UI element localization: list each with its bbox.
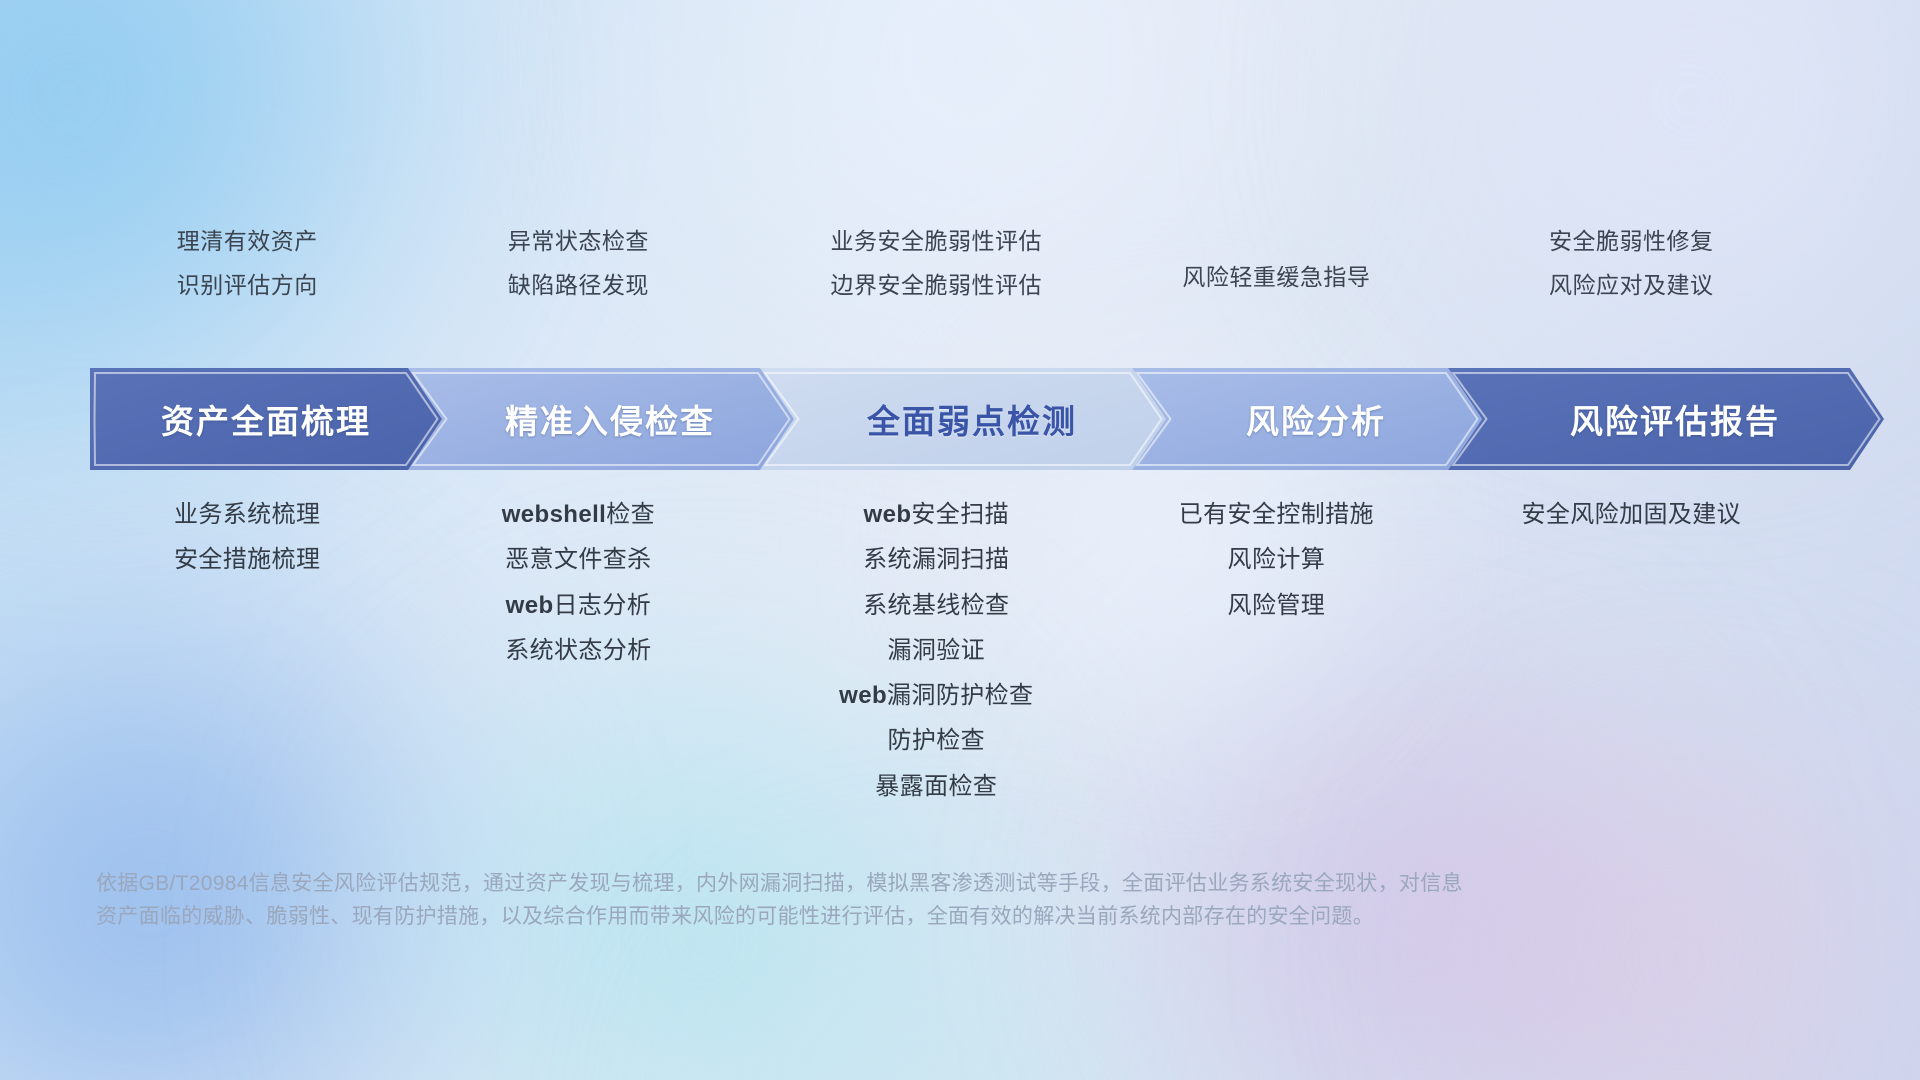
bottom-caption-column-1: 业务系统梳理安全措施梳理 (90, 500, 404, 801)
bottom-caption-2-1: webshell检查 (502, 500, 655, 529)
bottom-caption-4-1: 已有安全控制措施 (1179, 500, 1374, 529)
diagram-content: 理清有效资产识别评估方向异常状态检查缺陷路径发现业务安全脆弱性评估边界安全脆弱性… (0, 0, 1920, 1080)
bottom-caption-column-5: 安全风险加固及建议 (1433, 500, 1830, 801)
top-caption-4-1: 风险轻重缓急指导 (1182, 264, 1370, 292)
top-caption-column-2: 异常状态检查缺陷路径发现 (404, 228, 752, 299)
stage-title-2: 精准入侵检查 (505, 395, 715, 443)
bottom-caption-5-1: 安全风险加固及建议 (1521, 500, 1741, 529)
stage-title-3: 全面弱点检测 (867, 395, 1077, 443)
process-stage-3[interactable]: 全面弱点检测 (760, 368, 1166, 470)
bottom-caption-1-1: 业务系统梳理 (174, 500, 320, 529)
top-caption-column-3: 业务安全脆弱性评估边界安全脆弱性评估 (752, 228, 1120, 299)
process-stage-4[interactable]: 风险分析 (1132, 368, 1482, 470)
footer-line-1: 依据GB/T20984信息安全风险评估规范，通过资产发现与梳理，内外网漏洞扫描，… (96, 868, 1616, 901)
bottom-caption-1-2: 安全措施梳理 (174, 545, 320, 574)
bottom-caption-3-5: web漏洞防护检查 (839, 681, 1033, 710)
top-caption-3-2: 边界安全脆弱性评估 (831, 272, 1043, 300)
footer-description: 依据GB/T20984信息安全风险评估规范，通过资产发现与梳理，内外网漏洞扫描，… (96, 868, 1616, 933)
bottom-caption-2-4: 系统状态分析 (505, 636, 651, 665)
stage-title-5: 风险评估报告 (1570, 395, 1780, 443)
process-stage-1[interactable]: 资产全面梳理 (90, 368, 442, 470)
top-caption-2-2: 缺陷路径发现 (508, 272, 649, 300)
bottom-caption-3-4: 漏洞验证 (887, 636, 985, 665)
bottom-caption-column-2: webshell检查恶意文件查杀web日志分析系统状态分析 (404, 500, 752, 801)
stage-title-4: 风险分析 (1246, 395, 1386, 443)
bottom-caption-2-2: 恶意文件查杀 (505, 545, 651, 574)
top-caption-column-1: 理清有效资产识别评估方向 (90, 228, 404, 299)
top-caption-2-1: 异常状态检查 (508, 228, 649, 256)
bottom-caption-column-4: 已有安全控制措施风险计算风险管理 (1120, 500, 1432, 801)
footer-line-2: 资产面临的威胁、脆弱性、现有防护措施，以及综合作用而带来风险的可能性进行评估，全… (96, 901, 1616, 934)
bottom-caption-3-7: 暴露面检查 (875, 772, 997, 801)
bottom-caption-3-6: 防护检查 (887, 726, 985, 755)
stage-title-1: 资产全面梳理 (161, 395, 371, 443)
bottom-caption-row: 业务系统梳理安全措施梳理webshell检查恶意文件查杀web日志分析系统状态分… (90, 500, 1830, 801)
top-caption-row: 理清有效资产识别评估方向异常状态检查缺陷路径发现业务安全脆弱性评估边界安全脆弱性… (90, 228, 1830, 299)
top-caption-column-5: 安全脆弱性修复风险应对及建议 (1433, 228, 1830, 299)
bottom-caption-3-1: web安全扫描 (864, 500, 1010, 529)
bottom-caption-3-2: 系统漏洞扫描 (863, 545, 1009, 574)
top-caption-5-2: 风险应对及建议 (1549, 272, 1714, 300)
process-stage-5[interactable]: 风险评估报告 (1448, 368, 1884, 470)
top-caption-5-1: 安全脆弱性修复 (1549, 228, 1714, 256)
top-caption-1-2: 识别评估方向 (177, 272, 318, 300)
top-caption-column-4: 风险轻重缓急指导 (1120, 228, 1432, 299)
bottom-caption-2-3: web日志分析 (506, 591, 652, 620)
slide-canvas: 理清有效资产识别评估方向异常状态检查缺陷路径发现业务安全脆弱性评估边界安全脆弱性… (0, 0, 1920, 1080)
top-caption-1-1: 理清有效资产 (177, 228, 318, 256)
bottom-caption-4-2: 风险计算 (1228, 545, 1326, 574)
top-caption-3-1: 业务安全脆弱性评估 (831, 228, 1043, 256)
bottom-caption-4-3: 风险管理 (1228, 591, 1326, 620)
bottom-caption-3-3: 系统基线检查 (863, 591, 1009, 620)
process-chevron-band: 资产全面梳理精准入侵检查全面弱点检测风险分析风险评估报告 (90, 368, 1850, 470)
bottom-caption-column-3: web安全扫描系统漏洞扫描系统基线检查漏洞验证web漏洞防护检查防护检查暴露面检… (752, 500, 1120, 801)
process-stage-2[interactable]: 精准入侵检查 (408, 368, 794, 470)
